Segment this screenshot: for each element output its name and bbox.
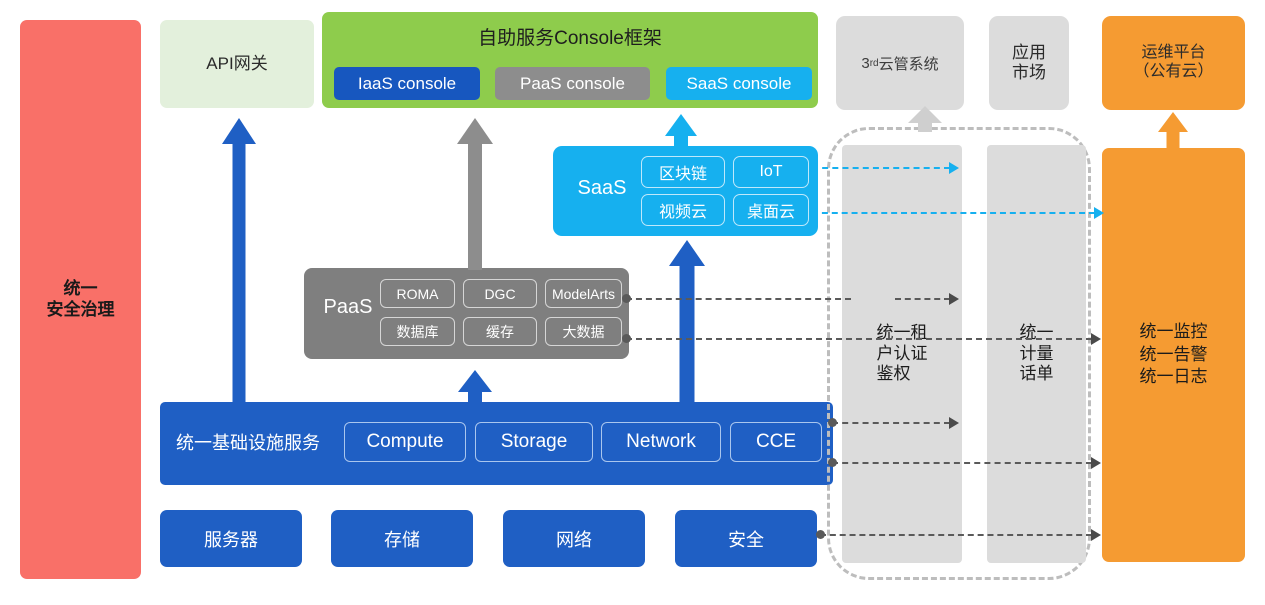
connector-infra-to-ops: [832, 462, 1092, 464]
paas-chip-dgc[interactable]: DGC: [463, 279, 537, 308]
connector-arrowhead-saas-auth: [949, 162, 959, 174]
connector-arrowhead-paas-ops: [1091, 333, 1101, 345]
infra-chip-cce[interactable]: CCE: [730, 422, 822, 462]
resource-box-security[interactable]: 安全: [675, 510, 817, 567]
architecture-diagram: 统一 安全治理 API网关 自助服务Console框架 IaaS console…: [0, 0, 1265, 605]
app-market-box: 应用 市场: [989, 16, 1069, 110]
connector-paas-to-auth-segment: [895, 298, 950, 300]
paas-chip-cache[interactable]: 缓存: [463, 317, 537, 346]
saas-chip-blockchain[interactable]: 区块链: [641, 156, 725, 188]
arrow-up-infra-to-paas: [458, 370, 492, 403]
paas-chip-roma[interactable]: ROMA: [380, 279, 455, 308]
connector-saas-to-auth: [812, 167, 950, 169]
paas-console-chip[interactable]: PaaS console: [495, 67, 650, 100]
third-party-cloud-mgmt-box: 3rd云管系统: [836, 16, 964, 110]
iaas-console-chip[interactable]: IaaS console: [334, 67, 480, 100]
connector-arrowhead-resources-ops: [1091, 529, 1101, 541]
saas-console-chip[interactable]: SaaS console: [666, 67, 812, 100]
third-party-suffix: 云管系统: [879, 53, 939, 74]
saas-chip-desktop-cloud[interactable]: 桌面云: [733, 194, 809, 226]
unified-metering-billing-column: 统一 计量 话单: [987, 145, 1086, 563]
console-framework-panel: 自助服务Console框架 IaaS console PaaS console …: [322, 12, 818, 108]
third-party-superscript: rd: [870, 58, 879, 69]
connector-arrowhead-paas-auth: [949, 293, 959, 305]
resource-box-network[interactable]: 网络: [503, 510, 645, 567]
infrastructure-services-panel: 统一基础设施服务 Compute Storage Network CCE: [160, 402, 833, 485]
resource-box-storage[interactable]: 存储: [331, 510, 473, 567]
infra-chip-network[interactable]: Network: [601, 422, 721, 462]
console-framework-title: 自助服务Console框架: [322, 23, 818, 50]
connector-arrowhead-infra-ops: [1091, 457, 1101, 469]
connector-arrowhead-saas-ops: [1094, 207, 1104, 219]
arrow-up-shared-to-third-party: [908, 106, 942, 132]
arrow-up-ops-column-to-ops-platform: [1158, 112, 1188, 148]
infra-chip-storage[interactable]: Storage: [475, 422, 593, 462]
infrastructure-title: 统一基础设施服务: [176, 429, 320, 455]
security-governance-panel: 统一 安全治理: [20, 20, 141, 579]
connector-resources-to-ops: [820, 534, 1092, 536]
resource-box-server[interactable]: 服务器: [160, 510, 302, 567]
connector-paas-to-auth: [626, 298, 851, 300]
paas-panel: PaaS ROMA DGC ModelArts 数据库 缓存 大数据: [304, 268, 629, 359]
saas-chip-video-cloud[interactable]: 视频云: [641, 194, 725, 226]
third-party-prefix: 3: [861, 55, 869, 72]
paas-title: PaaS: [312, 296, 384, 319]
saas-chip-iot[interactable]: IoT: [733, 156, 809, 188]
unified-monitoring-column: 统一监控 统一告警 统一日志: [1102, 148, 1245, 562]
unified-tenant-auth-column: 统一租 户认证 鉴权: [842, 145, 962, 563]
infra-chip-compute[interactable]: Compute: [344, 422, 466, 462]
connector-infra-to-auth: [832, 422, 950, 424]
api-gateway-box: API网关: [160, 20, 314, 108]
ops-platform-box: 运维平台 （公有云）: [1102, 16, 1245, 110]
arrow-up-infra-to-api-gateway: [222, 118, 256, 404]
connector-arrowhead-infra-auth: [949, 417, 959, 429]
connector-saas-to-ops: [812, 212, 1095, 214]
saas-title: SaaS: [565, 177, 639, 200]
paas-chip-modelarts[interactable]: ModelArts: [545, 279, 622, 308]
connector-paas-to-ops: [626, 338, 1092, 340]
arrow-up-saas-to-console: [665, 114, 697, 148]
saas-panel: SaaS 区块链 IoT 视频云 桌面云: [553, 146, 818, 236]
paas-chip-bigdata[interactable]: 大数据: [545, 317, 622, 346]
arrow-up-infra-to-saas: [669, 240, 705, 404]
arrow-up-paas-to-console: [457, 118, 493, 270]
paas-chip-database[interactable]: 数据库: [380, 317, 455, 346]
